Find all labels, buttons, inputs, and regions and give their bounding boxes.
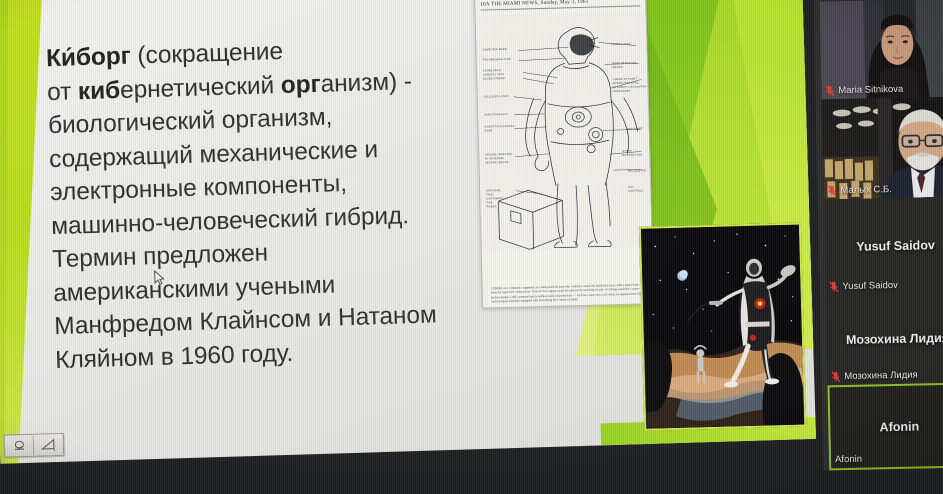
svg-text:BLOOD STREAM: BLOOD STREAM — [483, 77, 505, 81]
participant-label-malykh: Малых С.Б. — [827, 184, 892, 196]
participant-label-afonin: Afonin — [835, 454, 862, 466]
participant-label-maria: Maria Sitnikova — [825, 84, 903, 97]
svg-text:FIVE: FIVE — [486, 201, 492, 204]
svg-text:BY EXTERNAL: BY EXTERNAL — [485, 157, 504, 161]
mic-muted-icon — [831, 371, 840, 382]
mic-muted-icon — [825, 85, 834, 96]
participant-placeholder-name: Yusuf Saidov — [824, 237, 943, 254]
svg-text:CAMERA EYES: CAMERA EYES — [611, 43, 631, 47]
mic-muted-icon — [827, 185, 836, 196]
svg-text:SENSING DEVICE: SENSING DEVICE — [485, 161, 509, 165]
svg-text:NEW HEART: NEW HEART — [627, 127, 644, 130]
mic-muted-icon — [829, 281, 838, 292]
stamp-icon[interactable] — [5, 436, 34, 456]
svg-text:SKIN COVERALLS: SKIN COVERALLS — [484, 113, 508, 117]
participant-name: Yusuf Saidov — [842, 280, 898, 292]
participant-tile-yusuf-saidov[interactable]: Yusuf Saidov Yusuf Saidov — [824, 196, 943, 295]
participant-placeholder-name: Мозохина Лидия — [826, 330, 943, 347]
svg-text:RECYCLE AIR: RECYCLE AIR — [628, 169, 646, 172]
svg-text:COMPUTER BRAIN: COMPUTER BRAIN — [482, 48, 507, 52]
svg-text:OTHER: OTHER — [622, 150, 632, 153]
screenshot-root: Ки́борг (сокращение от кибернетический о… — [0, 0, 943, 494]
participant-name: Малых С.Б. — [840, 184, 892, 196]
svg-text:FROM HEART: FROM HEART — [613, 90, 631, 93]
participant-rail: Maria Sitnikova — [813, 0, 943, 471]
svg-text:DIRECTLY INTO: DIRECTLY INTO — [483, 73, 504, 77]
svg-text:LEG: LEG — [628, 186, 634, 189]
svg-text:CONTAINING: CONTAINING — [486, 197, 503, 200]
participant-tile-mozokhina-lidiya[interactable]: Мозохина Лидия Мозохина Лидия — [826, 292, 943, 385]
participant-name: Maria Sitnikova — [838, 84, 903, 96]
participant-tile-malykh[interactable]: Малых С.Б. — [821, 97, 943, 200]
participant-label-yusuf: Yusuf Saidov — [829, 280, 898, 292]
newspaper-clipping-image: 10A THE MIAMI NEWS, Sunday, May 3, 1961 — [474, 0, 654, 309]
svg-text:FACE: FACE — [486, 193, 493, 196]
svg-text:SENSOR: SENSOR — [612, 66, 624, 69]
participant-tile-maria-sitnikova[interactable]: Maria Sitnikova — [819, 0, 943, 99]
clipping-caption: CYBORG (or cybernetic organism) is a sem… — [491, 282, 647, 303]
participant-label-mozokhina: Мозохина Лидия — [831, 370, 918, 383]
svg-text:DISTRIBUTION: DISTRIBUTION — [622, 153, 642, 157]
mouse-cursor — [154, 270, 165, 286]
svg-text:POWER: POWER — [487, 205, 497, 208]
participant-name: Мозохина Лидия — [844, 370, 918, 383]
slide-body-text: Ки́борг (сокращение от кибернетический о… — [46, 29, 476, 377]
participant-tile-afonin[interactable]: Afonin Afonin — [827, 382, 943, 470]
svg-text:ARTIFICIAL: ARTIFICIAL — [486, 189, 501, 192]
triangle-ruler-icon[interactable] — [33, 435, 63, 455]
presentation-slide: Ки́борг (сокращение от кибернетический о… — [0, 0, 816, 464]
svg-text:ODOR DETECTING: ODOR DETECTING — [612, 61, 637, 65]
svg-text:CONTROLS: CONTROLS — [628, 189, 643, 192]
participant-placeholder-name: Afonin — [830, 418, 943, 435]
slide-mini-toolbar[interactable] — [4, 433, 65, 458]
cyborg-diagram-illustration: COMPUTER BRAIN TWO MESSAGE FLAP STORE DR… — [476, 11, 652, 251]
scifi-cyborg-painting — [639, 223, 806, 431]
photographed-screen: Ки́борг (сокращение от кибернетический о… — [0, 0, 943, 494]
participant-name: Afonin — [835, 454, 862, 466]
svg-text:STORE DRUG: STORE DRUG — [483, 69, 501, 72]
svg-text:PUMP: PUMP — [485, 129, 493, 132]
